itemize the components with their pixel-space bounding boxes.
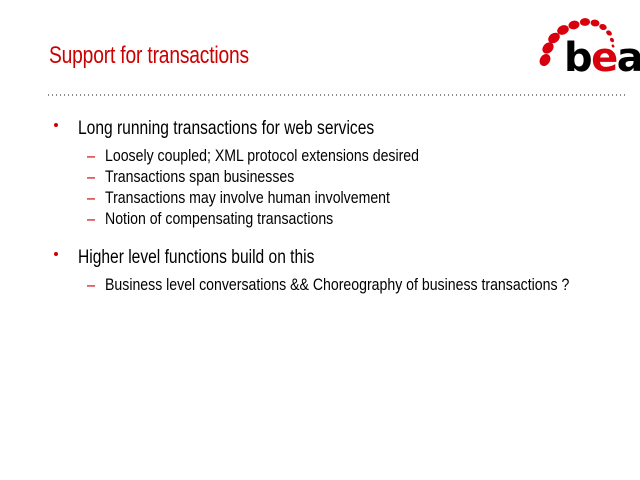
bullet-dot-icon (54, 252, 58, 256)
bullet-level1-label: Long running transactions for web servic… (78, 118, 539, 140)
dash-bullet-icon: – (87, 275, 95, 295)
bullet-level1-label: Higher level functions build on this (78, 247, 539, 269)
bullet-dot-icon (54, 123, 58, 127)
bullet-item-level1: Long running transactions for web servic… (0, 118, 640, 140)
bea-wordmark-a: a (617, 35, 640, 81)
bea-wordmark: bea (564, 38, 640, 78)
bea-wordmark-e: e (591, 35, 617, 81)
slide-canvas: Support for transactions bea (0, 0, 640, 480)
dash-bullet-icon: – (87, 146, 95, 166)
bullet-item-level2: – Loosely coupled; XML protocol extensio… (0, 146, 640, 166)
dash-bullet-icon: – (87, 209, 95, 229)
bea-logo: bea (538, 14, 634, 80)
bullet-item-level2: – Notion of compensating transactions (0, 209, 640, 229)
bullet-level2-label: Notion of compensating transactions (105, 209, 636, 229)
bullet-item-level2: – Transactions may involve human involve… (0, 188, 640, 208)
bullet-item-level2: – Business level conversations && Choreo… (0, 275, 640, 295)
bullet-item-level1: Higher level functions build on this (0, 247, 640, 269)
page-title: Support for transactions (49, 42, 249, 70)
bullet-item-level2: – Transactions span businesses (0, 167, 640, 187)
bea-wordmark-b: b (564, 35, 591, 81)
dotted-separator (48, 94, 626, 96)
bullet-level2-label: Loosely coupled; XML protocol extensions… (105, 146, 636, 166)
slide-body: Long running transactions for web servic… (0, 118, 640, 296)
bullet-level2-label: Business level conversations && Choreogr… (105, 275, 570, 295)
dash-bullet-icon: – (87, 167, 95, 187)
bullet-level2-label: Transactions may involve human involveme… (105, 188, 636, 208)
bullet-level2-label: Transactions span businesses (105, 167, 636, 187)
dash-bullet-icon: – (87, 188, 95, 208)
